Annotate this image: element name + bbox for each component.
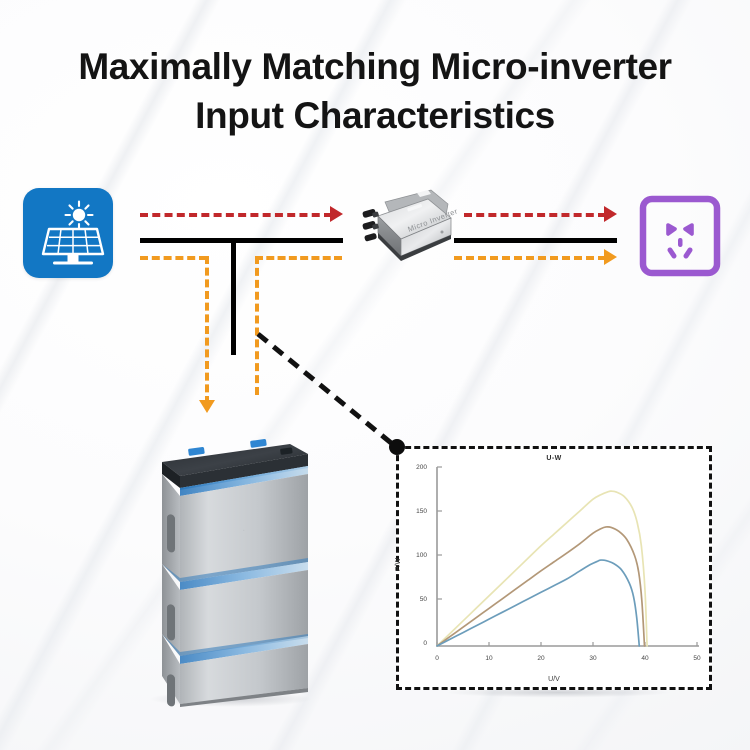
arrow-pv-to-battery-orange — [199, 400, 215, 413]
battery-stack-glyph: . — [140, 432, 325, 707]
arrow-inverter-to-socket-orange — [604, 249, 617, 265]
callout-anchor-dot — [389, 439, 405, 455]
wire-pv-to-inverter-red — [140, 213, 332, 217]
wire-inverter-to-socket-red — [464, 213, 606, 217]
chart-panel: U-W P/W U/V 200 150 100 50 0 0 10 20 30 … — [396, 446, 712, 690]
chart-curves — [437, 491, 647, 646]
chart-series-medium-irradiance — [437, 527, 644, 646]
chart-plot-area — [399, 449, 709, 687]
wire-inverter-to-socket-black — [454, 238, 617, 243]
micro-inverter-device: Micro Inverter — [345, 182, 465, 280]
wire-battery-to-inverter-orange-v — [255, 256, 259, 395]
battery-stack: . — [140, 432, 325, 707]
arrow-pv-to-inverter-red — [330, 206, 343, 222]
wire-pv-to-battery-orange-v — [205, 256, 209, 404]
solar-panel-icon — [23, 188, 113, 278]
power-socket-icon — [637, 193, 723, 279]
solar-panel-glyph — [23, 188, 113, 278]
title-line-1: Maximally Matching Micro-inverter — [78, 46, 671, 87]
power-socket-glyph — [637, 193, 723, 279]
wire-pv-to-battery-orange-h — [140, 256, 207, 260]
title-line-2: Input Characteristics — [0, 91, 750, 140]
wire-battery-to-inverter-orange-h — [255, 256, 342, 260]
wire-junction-stem — [231, 243, 236, 355]
diagram-canvas: Maximally Matching Micro-inverter Input … — [0, 0, 750, 750]
wire-pv-to-inverter-black — [140, 238, 343, 243]
page-title: Maximally Matching Micro-inverter Input … — [0, 42, 750, 140]
chart-panel-shadow — [402, 690, 714, 702]
micro-inverter-glyph: Micro Inverter — [345, 182, 465, 280]
arrow-inverter-to-socket-red — [604, 206, 617, 222]
wire-inverter-to-socket-orange — [454, 256, 606, 260]
